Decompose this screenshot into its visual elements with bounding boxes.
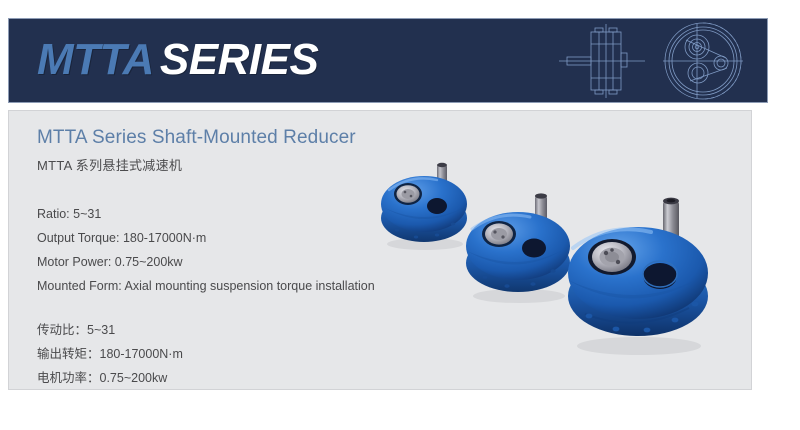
product-banner-page: MTTASERIES	[0, 0, 800, 430]
bearing-hub	[394, 183, 422, 205]
gearbox-large	[555, 196, 725, 358]
inspection-port	[427, 198, 447, 214]
blueprint-group	[555, 19, 753, 102]
content-panel: MTTA Series Shaft-Mounted Reducer MTTA 系…	[8, 110, 752, 390]
brand-title-primary: MTTA	[37, 35, 154, 84]
product-photo-group	[359, 111, 752, 390]
side-view-drawing	[555, 20, 651, 102]
inspection-port	[643, 263, 677, 289]
inspection-port	[522, 239, 546, 258]
brand-title: MTTASERIES	[37, 38, 318, 82]
brand-title-secondary: SERIES	[160, 35, 318, 84]
housing-body	[568, 227, 708, 319]
front-view-drawing	[657, 18, 753, 103]
bearing-hub	[588, 239, 636, 275]
bearing-hub	[482, 221, 516, 247]
gearbox-shadow	[577, 337, 701, 355]
header-banner: MTTASERIES	[8, 18, 768, 103]
